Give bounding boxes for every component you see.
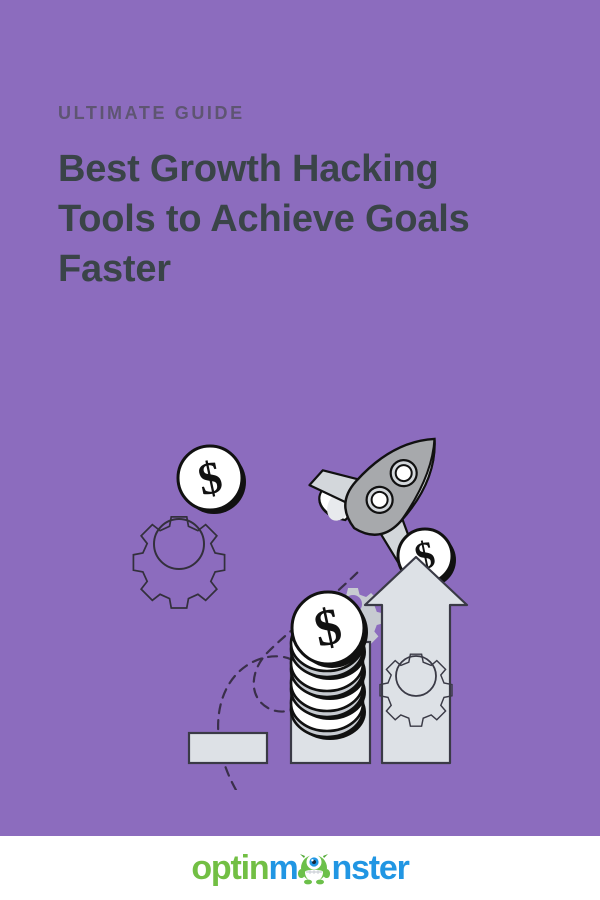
- monster-mascot-icon: [297, 851, 331, 885]
- coin-dollar-large-icon: $: [178, 446, 246, 514]
- coin-stack-icon: $: [291, 592, 368, 740]
- eyebrow-label: ULTIMATE GUIDE: [58, 104, 528, 122]
- poster-canvas: ULTIMATE GUIDE Best Growth Hacking Tools…: [0, 0, 600, 900]
- logo-text-nster: nster: [331, 851, 408, 885]
- logo-text-optin: optin: [191, 851, 268, 885]
- headline-block: ULTIMATE GUIDE Best Growth Hacking Tools…: [58, 104, 528, 294]
- growth-illustration: $: [0, 420, 600, 790]
- brand-logo: optin m: [0, 836, 600, 900]
- page-title: Best Growth Hacking Tools to Achieve Goa…: [58, 144, 528, 294]
- bar-short: [189, 733, 267, 763]
- bar-tall-arrow: [365, 557, 467, 763]
- logo-text-m: m: [268, 851, 297, 885]
- gear-outline-left-icon: [133, 517, 224, 608]
